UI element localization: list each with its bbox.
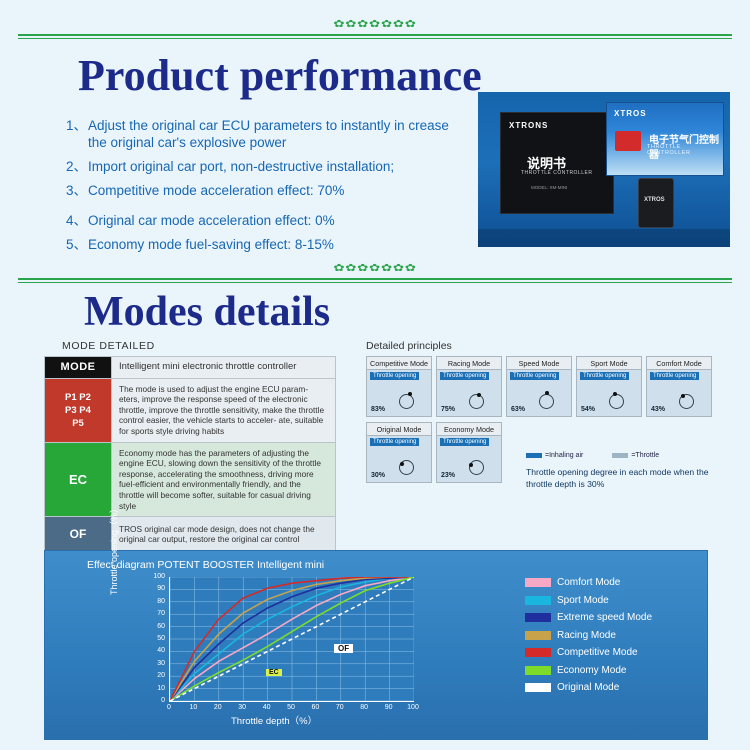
- chart-ylabel: Throttle opening（%）: [107, 504, 120, 595]
- manual-model: MODEL: XM-MINI: [531, 185, 567, 190]
- retail-badge: [615, 131, 641, 151]
- legend-swatch: [525, 683, 551, 692]
- legend-item: Economy Mode: [525, 665, 652, 676]
- gauge-title: Racing Mode: [436, 356, 502, 369]
- ornament-flourish: ✿✿✿✿✿✿✿: [0, 18, 750, 34]
- retail-box: XTROS 电子节气门控制器 THROTTLE CONTROLLER: [606, 102, 724, 176]
- list-item-text: Adjust the original car ECU parameters t…: [88, 118, 449, 150]
- legend-item: Racing Mode: [525, 630, 652, 641]
- legend-swatch: [525, 631, 551, 640]
- gauge-label: Throttle opening: [440, 372, 489, 380]
- list-item: 4、Original car mode acceleration effect:…: [66, 212, 466, 229]
- chart-y-tick: 80: [147, 598, 165, 605]
- chart-x-tick: 10: [186, 704, 200, 711]
- inhaling-air-swatch: [526, 453, 542, 458]
- chart-xlabel: Throttle depth（%）: [231, 713, 317, 727]
- divider-rule: [18, 34, 732, 36]
- ornament-flourish: ✿✿✿✿✿✿✿: [0, 262, 750, 278]
- retail-title-en: THROTTLE CONTROLLER: [647, 144, 723, 156]
- gauge-row-1: Competitive Mode Throttle opening 83% Ra…: [366, 356, 722, 417]
- gauge-title: Sport Mode: [576, 356, 642, 369]
- gauge-value: 54%: [581, 406, 595, 413]
- gauge-title: Competitive Mode: [366, 356, 432, 369]
- list-item: 5、Economy mode fuel-saving effect: 8-15%: [66, 236, 466, 253]
- gauge-label: Throttle opening: [440, 438, 489, 446]
- throttle-swatch: [612, 453, 628, 458]
- manual-box: XTRONS 说明书 THROTTLE CONTROLLER MODEL: XM…: [500, 112, 614, 214]
- chart-svg: [170, 577, 414, 701]
- legend-label-inhaling: =Inhaling air: [545, 452, 583, 459]
- gauge-card: Competitive Mode Throttle opening 83%: [366, 356, 432, 417]
- list-item: 1、Adjust the original car ECU parameters…: [66, 117, 466, 151]
- gauge-dial-icon: [605, 390, 627, 412]
- table-row: MODE Intelligent mini electronic throttl…: [45, 357, 336, 379]
- manual-logo: XTRONS: [509, 121, 548, 130]
- chart-y-tick: 0: [147, 697, 165, 704]
- gauge-dial-icon: [395, 456, 417, 478]
- device-logo: XTROS: [644, 197, 665, 203]
- list-item: 3、Competitive mode acceleration effect: …: [66, 182, 466, 199]
- mode-key-cell: EC: [45, 442, 112, 517]
- gauge-label: Throttle opening: [580, 372, 629, 380]
- chart-x-tick: 70: [333, 704, 347, 711]
- list-item-number: 4、: [66, 212, 87, 229]
- gauge-body: Throttle opening 63%: [506, 369, 572, 417]
- legend-item: Original Mode: [525, 682, 652, 693]
- legend-swatch: [525, 666, 551, 675]
- chart-x-tick: 100: [406, 704, 420, 711]
- gauge-label: Throttle opening: [370, 372, 419, 380]
- gauge-body: Throttle opening 43%: [646, 369, 712, 417]
- gauge-card: Comfort Mode Throttle opening 43%: [646, 356, 712, 417]
- list-item-number: 3、: [66, 182, 87, 199]
- gauge-body: Throttle opening 75%: [436, 369, 502, 417]
- gauge-value: 83%: [371, 406, 385, 413]
- mode-key-cell: OF: [45, 517, 112, 552]
- ornament-top: ✿✿✿✿✿✿✿: [0, 18, 750, 39]
- gauge-card: Speed Mode Throttle opening 63%: [506, 356, 572, 417]
- mode-value-cell: Economy mode has the parameters of adjus…: [112, 442, 336, 517]
- list-item: 2、Import original car port, non-destruct…: [66, 158, 466, 175]
- gauge-card: Sport Mode Throttle opening 54%: [576, 356, 642, 417]
- gauge-title: Comfort Mode: [646, 356, 712, 369]
- list-item-text: Economy mode fuel-saving effect: 8-15%: [88, 237, 334, 252]
- mode-key-cell: P1 P2 P3 P4 P5: [45, 378, 112, 442]
- mode-detailed-caption: MODE DETAILED: [62, 340, 155, 352]
- page-root: ✿✿✿✿✿✿✿ Product performance 1、Adjust the…: [0, 0, 750, 750]
- gauge-body: Throttle opening 54%: [576, 369, 642, 417]
- table-row: OF TROS original car mode design, does n…: [45, 517, 336, 552]
- chart-y-tick: 60: [147, 623, 165, 630]
- divider-rule-thin: [18, 38, 732, 39]
- gauge-title: Original Mode: [366, 422, 432, 435]
- legend-label: Original Mode: [557, 682, 619, 693]
- gauge-body: Throttle opening 23%: [436, 435, 502, 483]
- chart-x-tick: 80: [357, 704, 371, 711]
- modes-table: MODE Intelligent mini electronic throttl…: [44, 356, 336, 552]
- legend-item: Extreme speed Mode: [525, 612, 652, 623]
- list-item-text: Original car mode acceleration effect: 0…: [88, 213, 335, 228]
- divider-rule-thin: [18, 282, 732, 283]
- gauge-label: Throttle opening: [510, 372, 559, 380]
- legend-item: Competitive Mode: [525, 647, 652, 658]
- chart-y-tick: 40: [147, 647, 165, 654]
- chart-x-tick: 0: [162, 704, 176, 711]
- legend-swatch: [525, 648, 551, 657]
- principles-caption: Detailed principles: [366, 340, 452, 352]
- gauge-value: 43%: [651, 406, 665, 413]
- gauge-dial-icon: [535, 390, 557, 412]
- effect-diagram-card: Effect diagram POTENT BOOSTER Intelligen…: [44, 550, 708, 740]
- legend-label: Economy Mode: [557, 665, 626, 676]
- gauge-dial-icon: [675, 390, 697, 412]
- photo-shadow: [478, 229, 730, 247]
- chart-y-tick: 70: [147, 610, 165, 617]
- chart-legend: Comfort ModeSport ModeExtreme speed Mode…: [525, 577, 652, 700]
- legend-row: =Inhaling air =Throttle: [526, 452, 722, 459]
- gauge-note: Throttle opening degree in each mode whe…: [526, 466, 726, 490]
- legend-label-throttle: =Throttle: [631, 452, 659, 459]
- legend-label: Extreme speed Mode: [557, 612, 652, 623]
- gauge-dial-icon: [465, 456, 487, 478]
- ornament-middle: ✿✿✿✿✿✿✿: [0, 262, 750, 283]
- chart-y-tick: 30: [147, 660, 165, 667]
- gauge-legend: =Inhaling air =Throttle: [526, 452, 722, 459]
- list-item-number: 1、: [66, 117, 87, 134]
- chart-x-tick: 50: [284, 704, 298, 711]
- list-item-text: Import original car port, non-destructiv…: [88, 159, 394, 174]
- annotation-ec: EC: [266, 669, 282, 676]
- retail-logo: XTROS: [614, 109, 647, 118]
- legend-swatch: [525, 578, 551, 587]
- gauge-value: 23%: [441, 472, 455, 479]
- chart-title: Effect diagram POTENT BOOSTER Intelligen…: [87, 559, 324, 571]
- list-item-number: 5、: [66, 236, 87, 253]
- gauge-title: Economy Mode: [436, 422, 502, 435]
- list-item-number: 2、: [66, 158, 87, 175]
- gauge-value: 63%: [511, 406, 525, 413]
- gauge-title: Speed Mode: [506, 356, 572, 369]
- gauge-value: 75%: [441, 406, 455, 413]
- chart-y-tick: 20: [147, 672, 165, 679]
- mode-value-cell: Intelligent mini electronic throttle con…: [112, 357, 336, 379]
- chart-x-tick: 30: [235, 704, 249, 711]
- table-row: P1 P2 P3 P4 P5 The mode is used to adjus…: [45, 378, 336, 442]
- gauge-dial-icon: [465, 390, 487, 412]
- legend-swatch: [525, 596, 551, 605]
- gauge-value: 30%: [371, 472, 385, 479]
- chart-y-tick: 50: [147, 635, 165, 642]
- legend-item: Sport Mode: [525, 595, 652, 606]
- gauge-dial-icon: [395, 390, 417, 412]
- features-list: 1、Adjust the original car ECU parameters…: [66, 117, 466, 260]
- legend-label: Competitive Mode: [557, 647, 638, 658]
- gauge-body: Throttle opening 83%: [366, 369, 432, 417]
- legend-swatch: [525, 613, 551, 622]
- gauge-card: Economy Mode Throttle opening 23%: [436, 422, 502, 483]
- annotation-of: OF: [334, 644, 353, 653]
- mode-key-cell: MODE: [45, 357, 112, 379]
- section-title: Modes details: [84, 288, 750, 336]
- legend-label: Sport Mode: [557, 595, 609, 606]
- gauge-label: Throttle opening: [370, 438, 419, 446]
- list-item-text: Competitive mode acceleration effect: 70…: [88, 183, 344, 198]
- legend-label: Comfort Mode: [557, 577, 620, 588]
- gauge-card: Original Mode Throttle opening 30%: [366, 422, 432, 483]
- device-unit: XTROS: [638, 178, 674, 228]
- chart-x-tick: 60: [308, 704, 322, 711]
- mode-value-cell: TROS original car mode design, does not …: [112, 517, 336, 552]
- gauge-label: Throttle opening: [650, 372, 699, 380]
- divider-rule: [18, 278, 732, 280]
- legend-label: Racing Mode: [557, 630, 616, 641]
- chart-y-tick: 10: [147, 685, 165, 692]
- chart-plot-area: [169, 577, 414, 702]
- legend-item: Comfort Mode: [525, 577, 652, 588]
- manual-title-en: THROTTLE CONTROLLER: [521, 170, 592, 176]
- mode-value-cell: The mode is used to adjust the engine EC…: [112, 378, 336, 442]
- chart-x-tick: 20: [211, 704, 225, 711]
- table-row: EC Economy mode has the parameters of ad…: [45, 442, 336, 517]
- chart-x-tick: 40: [260, 704, 274, 711]
- chart-y-tick: 100: [147, 573, 165, 580]
- gauge-body: Throttle opening 30%: [366, 435, 432, 483]
- gauge-card: Racing Mode Throttle opening 75%: [436, 356, 502, 417]
- chart-y-tick: 90: [147, 585, 165, 592]
- product-photo: XTRONS 说明书 THROTTLE CONTROLLER MODEL: XM…: [478, 92, 730, 247]
- chart-x-tick: 90: [382, 704, 396, 711]
